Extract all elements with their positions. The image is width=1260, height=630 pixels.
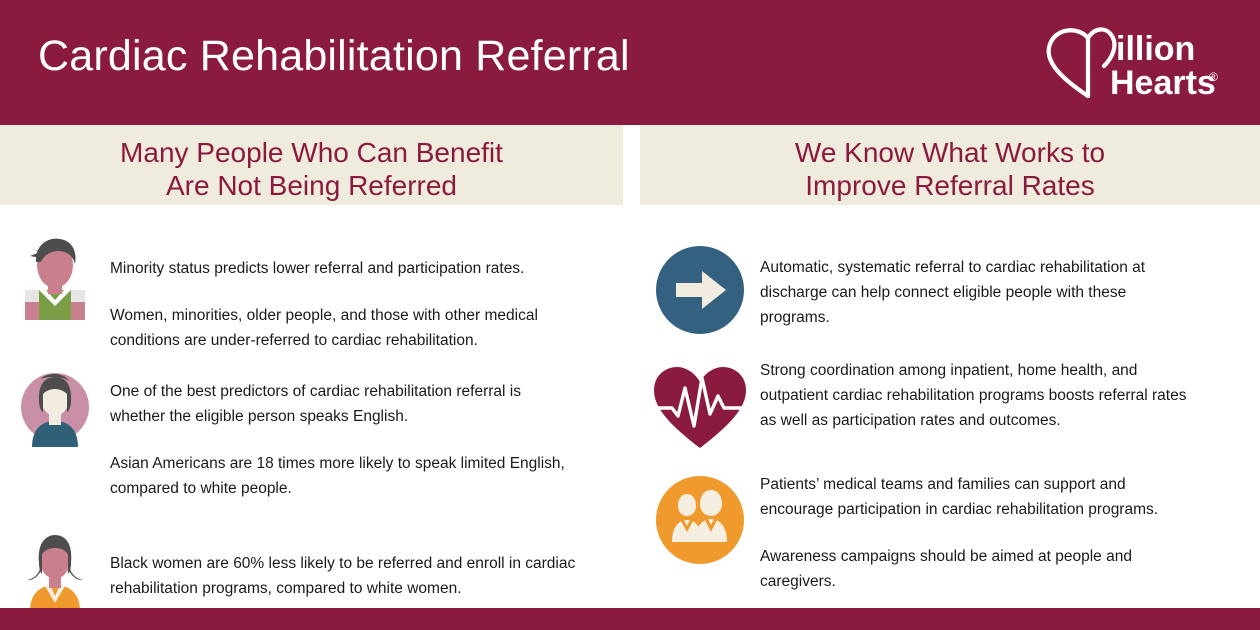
section-heading-right: We Know What Works to Improve Referral R… [640,136,1260,202]
right-row-2-paragraph-1: Strong coordination among inpatient, hom… [760,358,1190,433]
right-row-3-paragraph-1: Patients’ medical teams and families can… [760,472,1190,522]
left-row-2-paragraph-2: Asian Americans are 18 times more likely… [110,451,580,501]
person-green-shirt-avatar [0,232,110,320]
section-band-right: We Know What Works to Improve Referral R… [640,125,1260,205]
person-pink-circle-avatar [0,367,110,447]
left-row-1-paragraph-1: Minority status predicts lower referral … [110,256,580,281]
logo-word-bottom: Hearts [1110,64,1216,102]
section-band-left: Many People Who Can Benefit Are Not Bein… [0,125,623,205]
right-row-1-paragraph-1: Automatic, systematic referral to cardia… [760,255,1190,330]
left-row-3-paragraph-1: Black women are 60% less likely to be re… [110,551,580,601]
section-heading-right-line1: We Know What Works to [640,136,1260,169]
left-row-3: Black women are 60% less likely to be re… [0,519,623,611]
person-orange-shirt-avatar [0,519,110,611]
section-heading-right-line2: Improve Referral Rates [640,169,1260,202]
left-row-2: One of the best predictors of cardiac re… [0,367,623,501]
left-column: Minority status predicts lower referral … [0,232,623,611]
left-row-1-paragraph-2: Women, minorities, older people, and tho… [110,303,580,353]
right-row-1-text: Automatic, systematic referral to cardia… [760,234,1190,330]
left-row-1-text: Minority status predicts lower referral … [110,232,580,353]
logo-registered-mark: ® [1209,70,1218,84]
right-row-3-text: Patients’ medical teams and families can… [760,472,1190,594]
right-row-3-paragraph-2: Awareness campaigns should be aimed at p… [760,544,1190,594]
section-heading-left-line2: Are Not Being Referred [0,169,623,202]
left-row-1: Minority status predicts lower referral … [0,232,623,353]
left-row-2-text: One of the best predictors of cardiac re… [110,367,580,501]
right-row-2: Strong coordination among inpatient, hom… [640,356,1260,450]
million-hearts-logo: illion Hearts ® [1026,24,1226,102]
right-column: Automatic, systematic referral to cardia… [640,232,1260,594]
arrow-right-circle-icon [640,234,760,334]
two-people-circle-icon [640,472,760,564]
left-row-2-paragraph-1: One of the best predictors of cardiac re… [110,379,580,429]
section-heading-left: Many People Who Can Benefit Are Not Bein… [0,136,623,202]
logo-word-top: illion [1116,30,1195,68]
right-row-1: Automatic, systematic referral to cardia… [640,234,1260,334]
infographic-poster: Cardiac Rehabilitation Referral illion H… [0,0,1260,630]
page-title: Cardiac Rehabilitation Referral [38,32,630,81]
right-row-3: Patients’ medical teams and families can… [640,472,1260,594]
left-row-3-text: Black women are 60% less likely to be re… [110,519,580,601]
heart-pulse-icon [640,356,760,450]
footer-bar [0,608,1260,630]
section-heading-left-line1: Many People Who Can Benefit [0,136,623,169]
right-row-2-text: Strong coordination among inpatient, hom… [760,356,1190,433]
